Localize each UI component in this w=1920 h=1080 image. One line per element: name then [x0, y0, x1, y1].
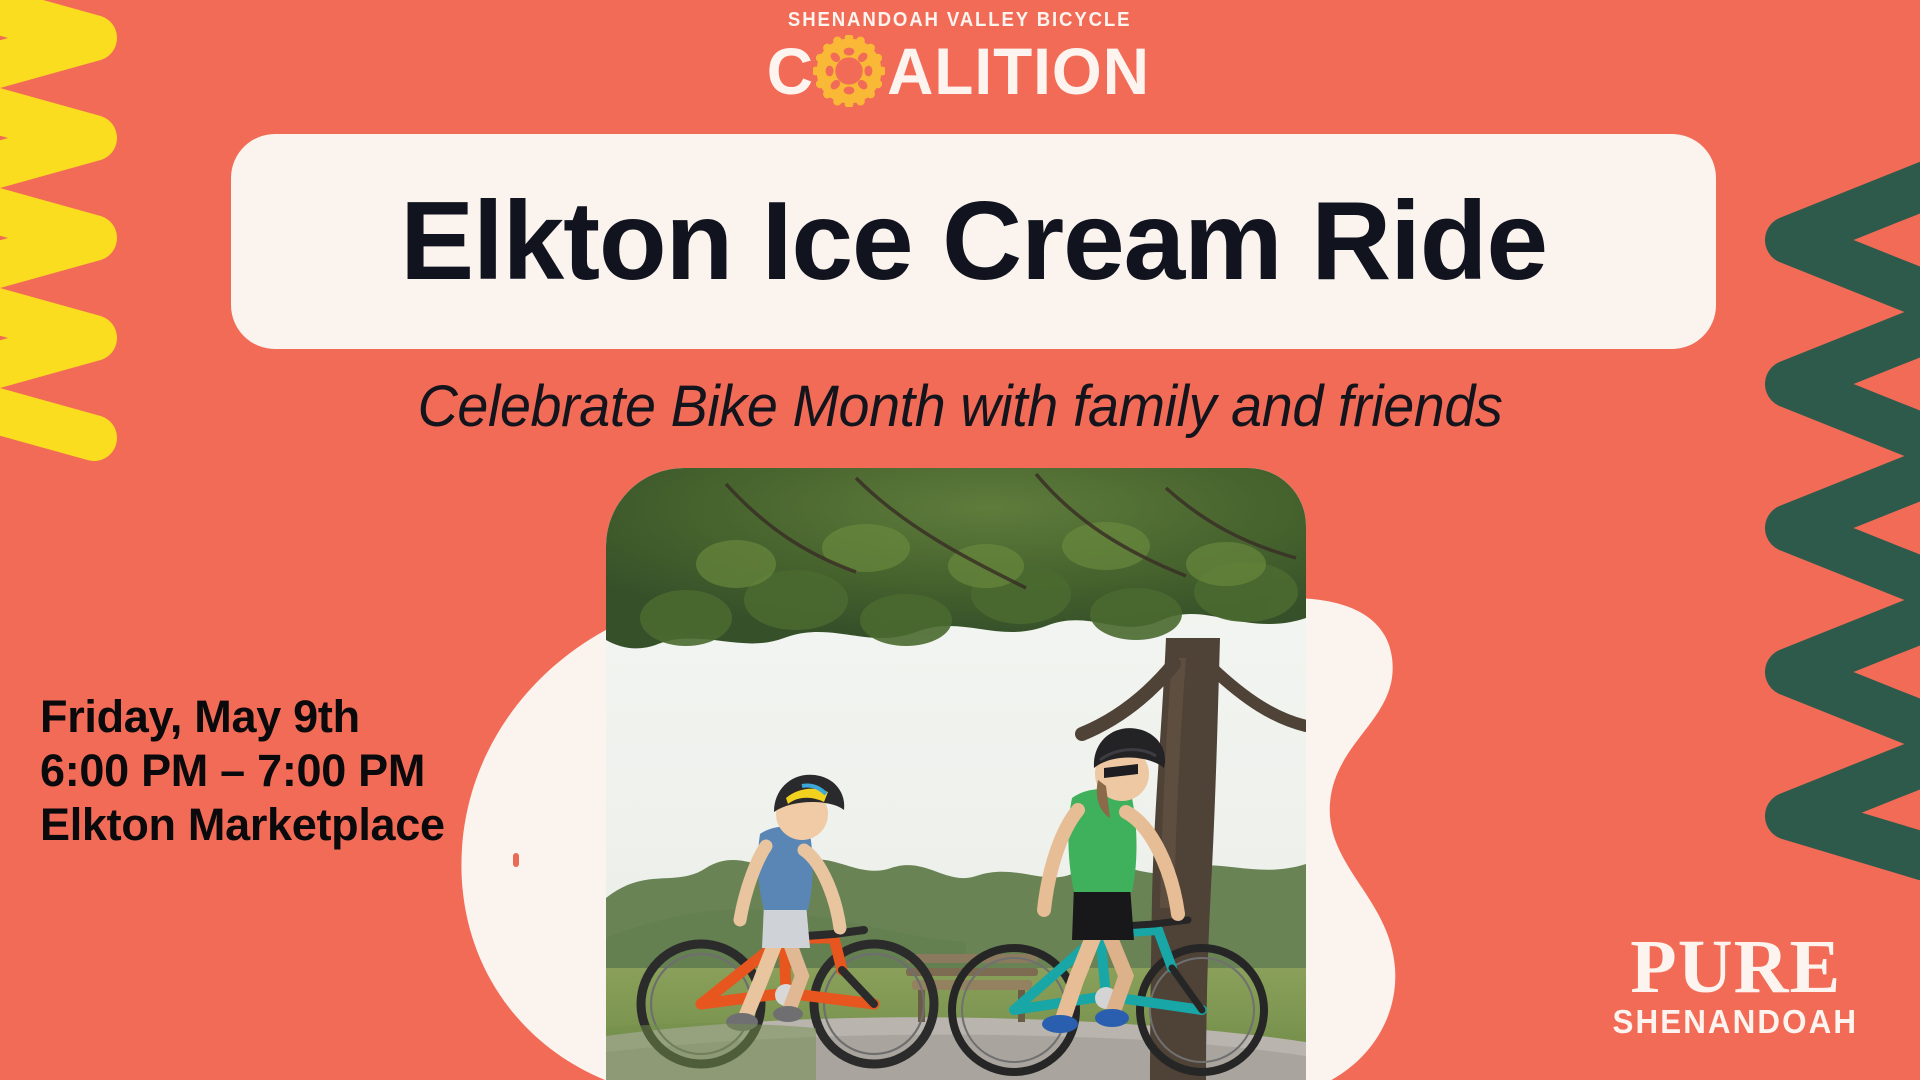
pure-shenandoah-logo: PURE SHENANDOAH	[1606, 932, 1865, 1038]
event-poster: SHENANDOAH VALLEY BICYCLE C	[0, 0, 1920, 1080]
coalition-word-alition: ALITION	[887, 38, 1150, 104]
bicycle-chainring-icon	[813, 35, 885, 107]
green-zigzag-ribbon	[1749, 150, 1920, 880]
event-photo	[606, 468, 1306, 1080]
coalition-logo: SHENANDOAH VALLEY BICYCLE C	[0, 10, 1920, 107]
event-date: Friday, May 9th	[40, 690, 445, 744]
coalition-wordmark: C	[766, 35, 1154, 107]
coalition-logo-tagline: SHENANDOAH VALLEY BICYCLE	[788, 10, 1131, 30]
event-location: Elkton Marketplace	[40, 798, 445, 852]
blob-accent-dot	[513, 853, 519, 867]
event-time: 6:00 PM – 7:00 PM	[40, 744, 445, 798]
event-details: Friday, May 9th 6:00 PM – 7:00 PM Elkton…	[40, 690, 445, 852]
shenandoah-wordmark: SHENANDOAH	[1613, 1005, 1859, 1038]
page-title: Elkton Ice Cream Ride	[400, 186, 1547, 297]
pure-wordmark: PURE	[1606, 932, 1865, 1003]
coalition-word-c: C	[767, 38, 814, 104]
cyclists-photo-illustration	[606, 468, 1306, 1080]
title-card: Elkton Ice Cream Ride	[231, 134, 1716, 349]
event-subtitle: Celebrate Bike Month with family and fri…	[38, 372, 1881, 442]
